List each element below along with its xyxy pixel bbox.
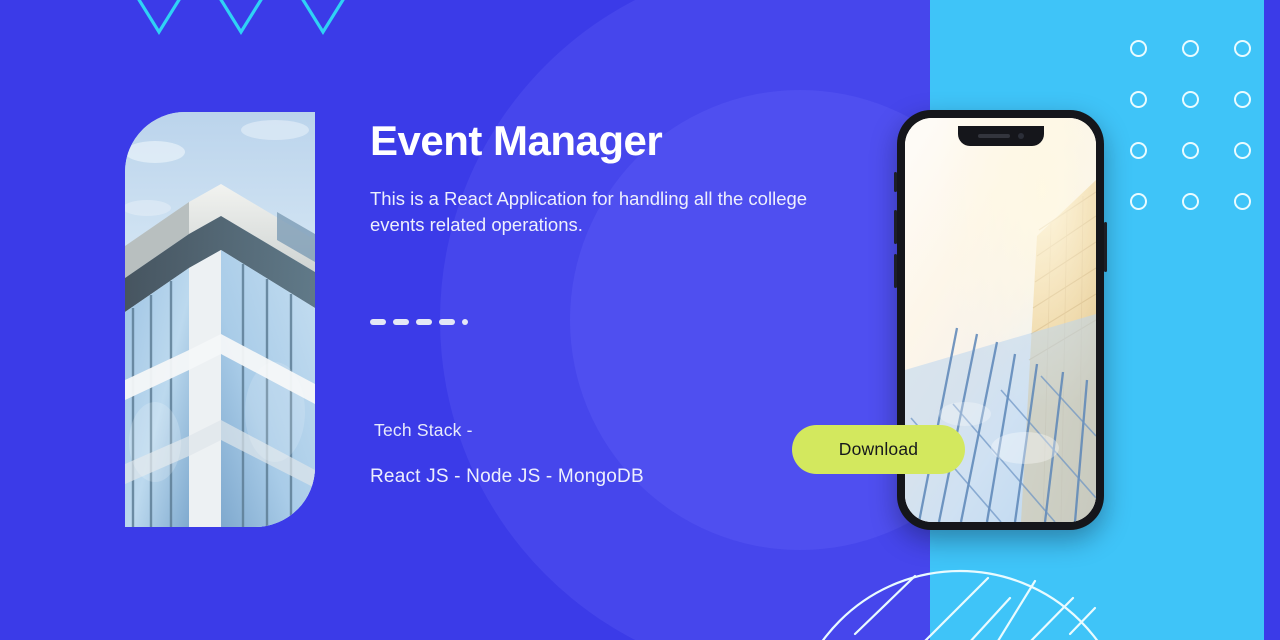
divider-dash [393,319,409,325]
ring-icon [1182,142,1199,159]
phone-camera-icon [1018,133,1024,139]
banner-stage: Event Manager This is a React Applicatio… [0,0,1280,640]
ring-icon [1182,91,1199,108]
divider-dash [416,319,432,325]
tech-stack-label: Tech Stack - [370,420,644,441]
divider-dash [370,319,386,325]
right-edge-strip [1264,0,1280,640]
divider-dot [462,319,468,325]
ring-icon [1234,40,1251,57]
tech-stack-list: React JS - Node JS - MongoDB [370,466,644,488]
phone-speaker-icon [978,134,1010,138]
ring-icon [1182,193,1199,210]
ring-icon [1130,91,1147,108]
ring-icon [1234,91,1251,108]
phone-power-button[interactable] [1104,222,1107,272]
ring-icon [1234,193,1251,210]
phone-silent-switch[interactable] [894,172,897,192]
phone-notch [958,126,1044,146]
ring-icon [1130,193,1147,210]
zigzag-decoration [118,0,374,36]
ring-icon [1234,142,1251,159]
phone-volume-up-button[interactable] [894,210,897,244]
ring-icon [1182,40,1199,57]
tech-stack-block: Tech Stack - React JS - Node JS - MongoD… [370,420,644,488]
phone-volume-down-button[interactable] [894,254,897,288]
divider-dash [439,319,455,325]
building-photo-card [125,112,315,527]
globe-arc-decoration [820,556,1140,640]
download-button[interactable]: Download [792,425,965,474]
ring-icon [1130,40,1147,57]
building-photo-illustration [125,112,315,527]
dashed-divider [370,319,468,325]
circle-dot-grid [1130,40,1270,250]
text-content: Event Manager This is a React Applicatio… [370,118,840,237]
page-subtitle: This is a React Application for handling… [370,186,840,237]
page-title: Event Manager [370,118,840,164]
ring-icon [1130,142,1147,159]
